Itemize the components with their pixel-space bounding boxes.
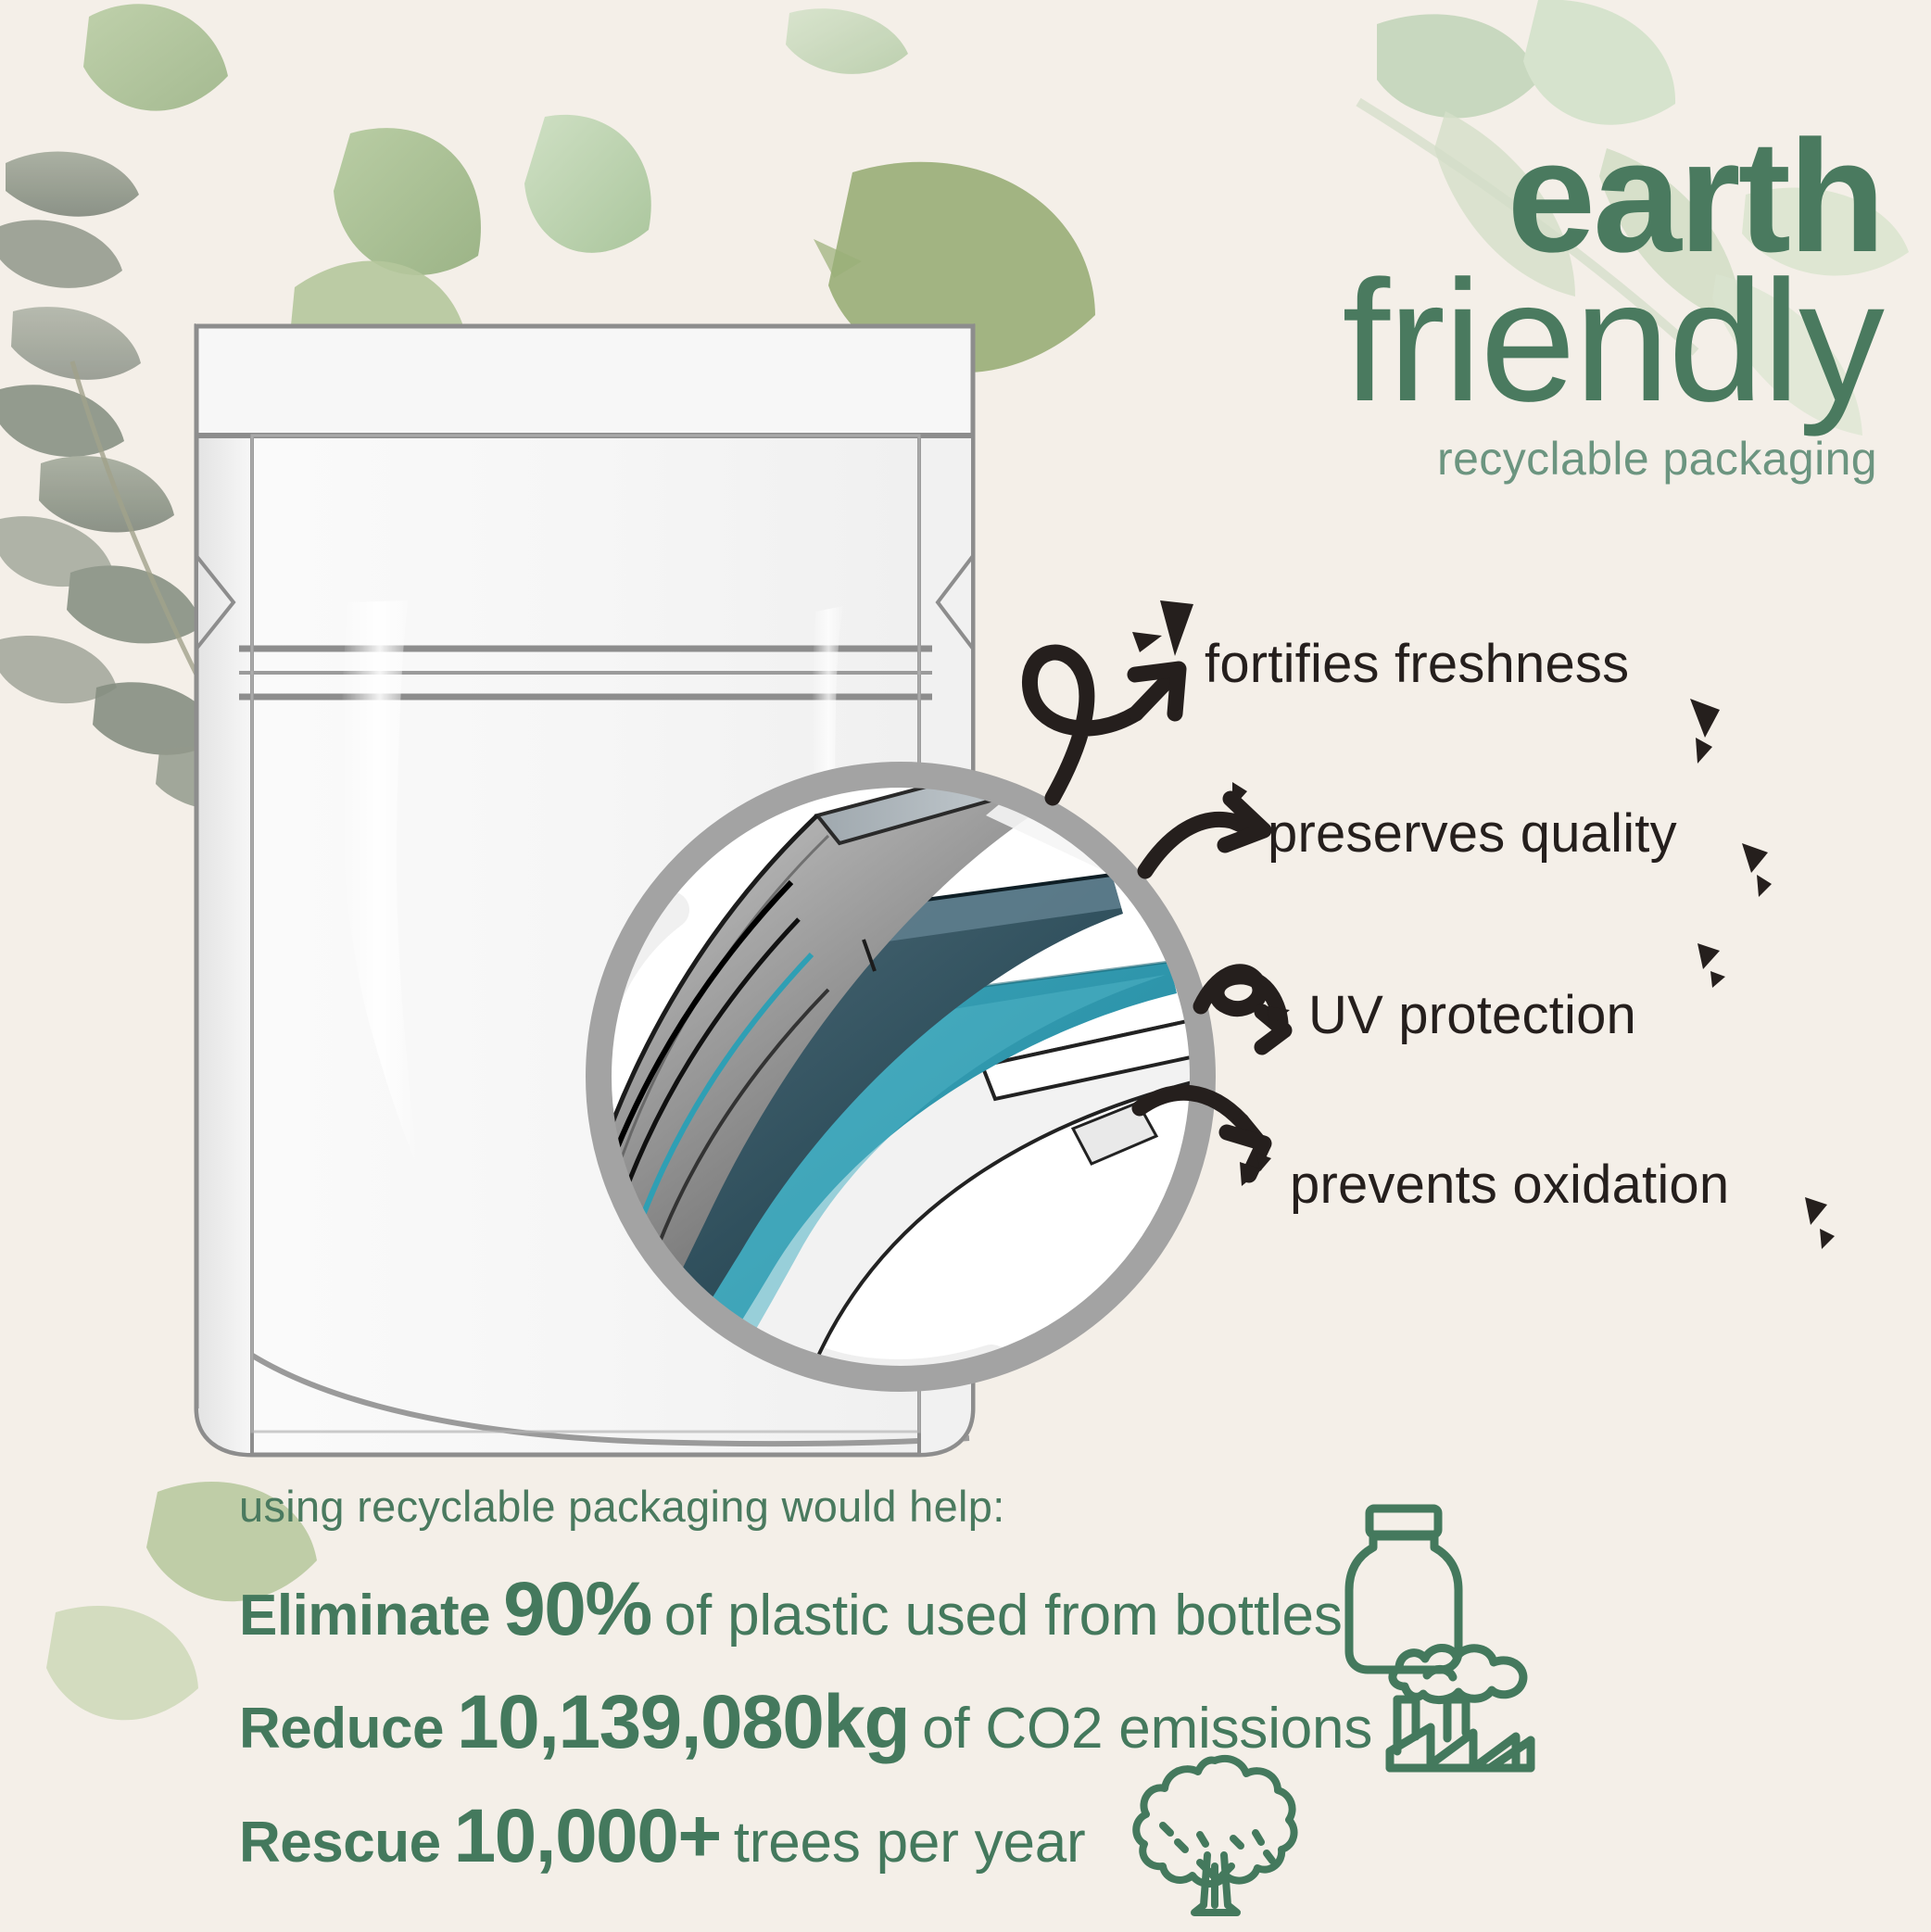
stat-number: 10,139,080kg xyxy=(457,1680,909,1764)
headline-block: earth friendly recyclable packaging xyxy=(1342,117,1883,482)
tree-icon xyxy=(1126,1753,1302,1925)
stat-lead: Reduce xyxy=(239,1697,444,1761)
stat-number: 90% xyxy=(503,1567,651,1651)
feature-label-fortifies-freshness: fortifies freshness xyxy=(1205,633,1629,695)
helper-text: using recyclable packaging would help: xyxy=(239,1481,1005,1532)
feature-label-prevents-oxidation: prevents oxidation xyxy=(1290,1154,1729,1216)
factory-icon xyxy=(1377,1629,1544,1787)
sparkle-marks xyxy=(1132,600,1835,1249)
stat-number: 10,000+ xyxy=(454,1794,721,1878)
stat-lead: Rescue xyxy=(239,1811,441,1875)
stat-row-eliminate: Eliminate90%of plastic used from bottles xyxy=(239,1566,1343,1653)
stat-tail: of CO2 emissions xyxy=(922,1697,1372,1761)
subtitle: recyclable packaging xyxy=(1342,436,1877,482)
stat-row-rescue: Rescue10,000+trees per year xyxy=(239,1793,1086,1880)
infographic-canvas: earth friendly recyclable packaging fort… xyxy=(0,0,1931,1932)
stat-lead: Eliminate xyxy=(239,1584,490,1648)
feature-label-uv-protection: UV protection xyxy=(1308,984,1636,1046)
title-line-2: friendly xyxy=(1342,256,1883,428)
stat-tail: of plastic used from bottles xyxy=(664,1584,1343,1648)
stat-tail: trees per year xyxy=(734,1811,1086,1875)
feature-label-preserves-quality: preserves quality xyxy=(1268,802,1677,865)
